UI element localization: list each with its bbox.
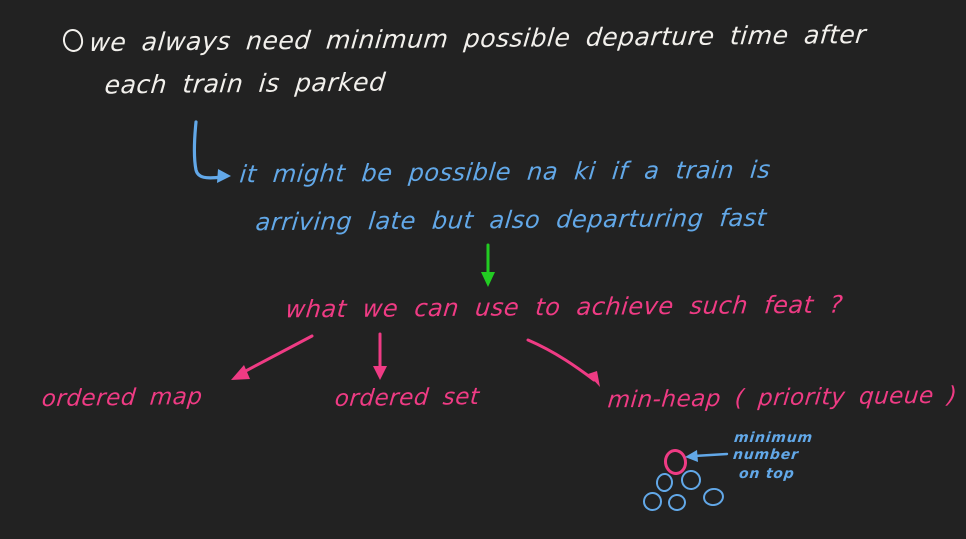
statement-line-2: each train is parked xyxy=(103,68,387,100)
statement-line-1: we always need minimum possible departur… xyxy=(88,20,867,57)
pink-arrow-to-ordered-set-icon xyxy=(373,334,387,380)
pink-arrow-to-min-heap-icon xyxy=(528,340,600,387)
clause-line-2: arriving late but also departuring fast xyxy=(254,204,768,236)
green-arrow-to-question-icon xyxy=(481,245,495,287)
heap-node-level3-left xyxy=(643,492,663,512)
heap-node-level2-right xyxy=(680,469,701,490)
annotation-line-3: on top xyxy=(738,466,795,482)
annotation-line-2: number xyxy=(732,447,799,463)
annotation-line-1: minimum xyxy=(733,430,814,446)
circle-bullet-icon xyxy=(61,28,84,54)
whiteboard-canvas: we always need minimum possible departur… xyxy=(0,0,966,539)
option-ordered-set: ordered set xyxy=(334,384,481,412)
clause-line-1: it might be possible na ki if a train is xyxy=(238,156,771,189)
option-min-heap: min-heap ( priority queue ) xyxy=(607,383,959,414)
heap-node-level2-left xyxy=(655,472,674,493)
heap-node-level3-mid xyxy=(667,493,686,512)
heap-node-level3-right xyxy=(702,486,726,507)
option-ordered-map: ordered map xyxy=(41,384,204,412)
pink-arrow-to-ordered-map-icon xyxy=(231,336,312,380)
elbow-arrow-to-clause-icon xyxy=(195,122,232,183)
question-text: what we can use to achieve such feat ? xyxy=(284,291,844,324)
blue-arrow-to-heap-root-icon xyxy=(685,450,727,462)
